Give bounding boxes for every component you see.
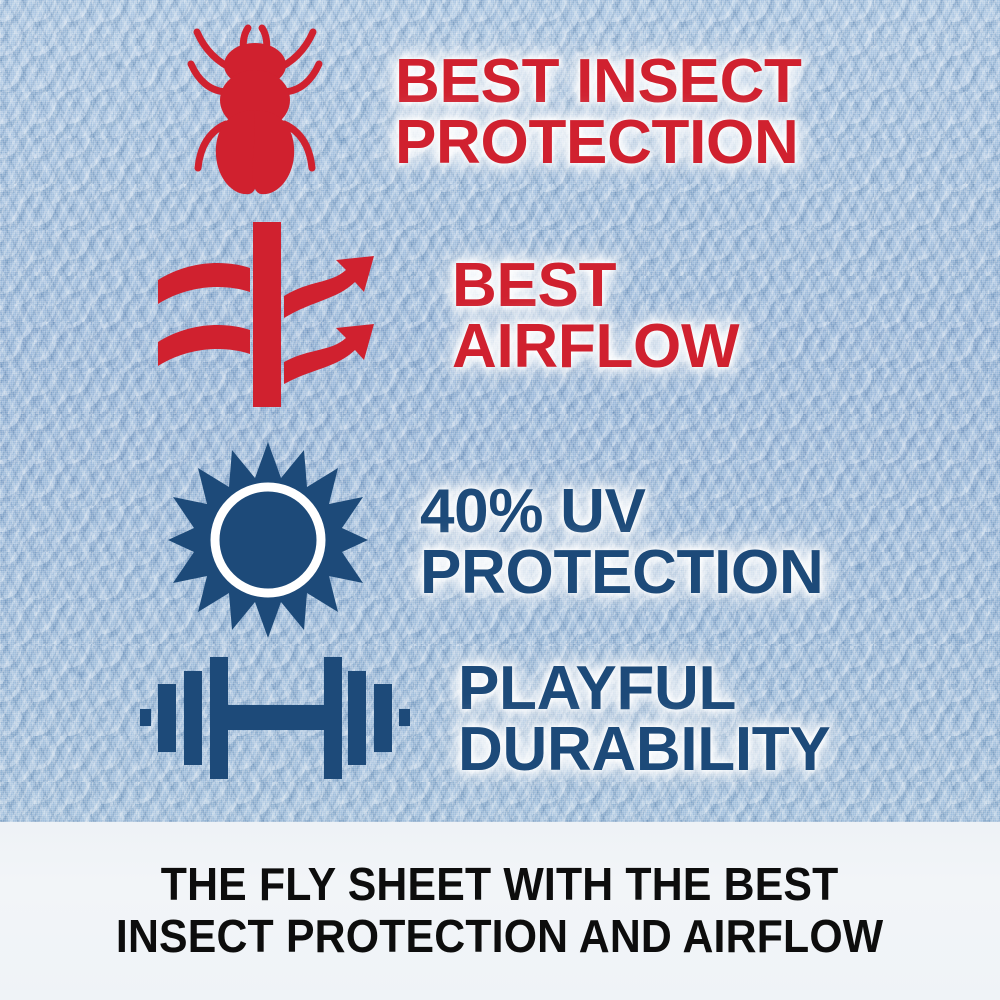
product-feature-poster: BEST INSECT PROTECTION BEST AIRFLOW — [0, 0, 1000, 1000]
fly-icon — [180, 18, 330, 208]
sun-uv-icon — [168, 440, 368, 645]
caption-bar: THE FLY SHEET WITH THE BEST INSECT PROTE… — [0, 822, 1000, 1000]
feature-row-insect-protection: BEST INSECT PROTECTION — [180, 18, 802, 208]
feature-label-airflow: BEST AIRFLOW — [452, 256, 739, 378]
feature-row-uv-protection: 40% UV PROTECTION — [168, 440, 823, 645]
feature-row-airflow: BEST AIRFLOW — [150, 222, 739, 412]
caption-headline: THE FLY SHEET WITH THE BEST INSECT PROTE… — [98, 859, 903, 962]
airflow-arrows-icon — [150, 222, 380, 412]
feature-row-durability: PLAYFUL DURABILITY — [140, 652, 830, 787]
dumbbell-icon — [140, 652, 410, 787]
feature-label-uv-protection: 40% UV PROTECTION — [420, 482, 823, 604]
feature-label-durability: PLAYFUL DURABILITY — [458, 659, 830, 781]
feature-label-insect-protection: BEST INSECT PROTECTION — [395, 52, 802, 174]
